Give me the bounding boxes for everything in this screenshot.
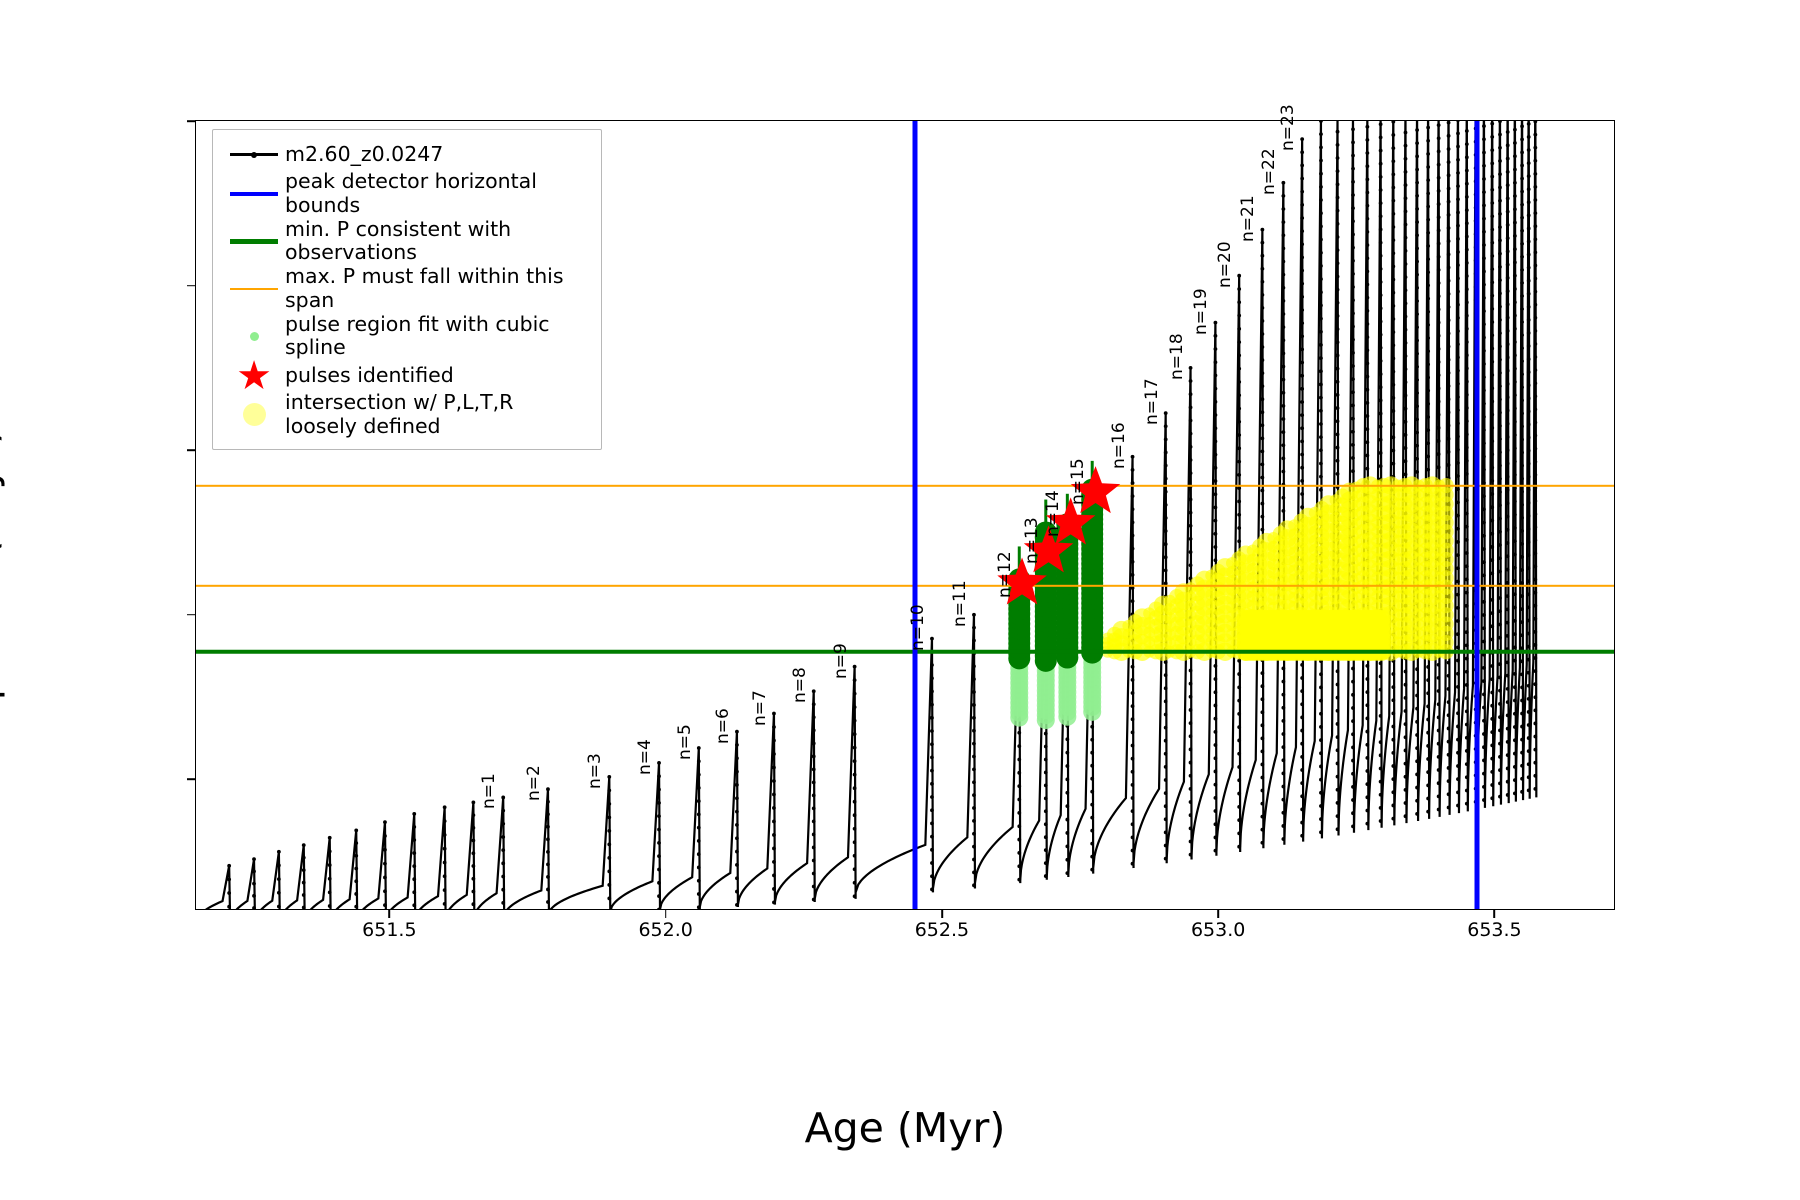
peak-label-n-21: n=21 <box>1238 195 1258 242</box>
legend-item[interactable]: max. P must fall within this span <box>223 265 591 313</box>
legend-line-dot-icon <box>223 142 285 168</box>
peak-label-n-18: n=18 <box>1167 333 1187 380</box>
legend-item[interactable]: ★pulses identified <box>223 360 591 391</box>
x-tick-mark <box>941 909 943 918</box>
peak-label-n-1: n=1 <box>479 774 499 810</box>
y-axis-label: FM period (days) <box>0 428 6 772</box>
peak-label-n-15: n=15 <box>1068 458 1088 505</box>
legend-item[interactable]: m2.60_z0.0247 <box>223 139 591 170</box>
y-tick-mark <box>187 779 196 781</box>
legend-item-label: pulses identified <box>285 364 454 388</box>
y-tick-mark <box>187 285 196 287</box>
legend-line-icon <box>223 276 285 302</box>
legend-item[interactable]: min. P consistent with observations <box>223 218 591 266</box>
max-period-span-lower-line <box>196 585 1614 587</box>
peak-label-n-4: n=4 <box>635 739 655 775</box>
legend-star-icon: ★ <box>223 363 285 389</box>
legend-item-label: m2.60_z0.0247 <box>285 143 443 167</box>
peak-label-n-19: n=19 <box>1191 288 1211 335</box>
legend-line-icon <box>223 228 285 254</box>
x-tick-mark <box>665 909 667 918</box>
legend-dot-icon <box>223 323 285 349</box>
legend-line-icon <box>223 181 285 207</box>
y-tick-mark <box>187 120 196 122</box>
x-tick-label: 651.5 <box>362 919 416 941</box>
figure-canvas: FM period (days) Age (Myr) n=1n=2n=3n=4n… <box>0 0 1800 1200</box>
y-tick-mark <box>187 614 196 616</box>
peak-label-n-3: n=3 <box>585 753 605 789</box>
x-tick-label: 653.5 <box>1467 919 1521 941</box>
x-tick-label: 652.5 <box>915 919 969 941</box>
peak-label-n-14: n=14 <box>1043 490 1063 537</box>
x-tick-mark <box>389 909 391 918</box>
legend-item[interactable]: peak detector horizontal bounds <box>223 170 591 218</box>
peak-detector-bound-right <box>1474 121 1479 909</box>
legend-big-dot-icon <box>223 402 285 428</box>
peak-label-n-8: n=8 <box>790 667 810 703</box>
legend-item-label: max. P must fall within this span <box>285 265 591 313</box>
x-tick-mark <box>1494 909 1496 918</box>
peak-label-n-5: n=5 <box>675 724 695 760</box>
peak-label-n-6: n=6 <box>713 708 733 744</box>
legend-item-label: min. P consistent with observations <box>285 218 591 266</box>
peak-label-n-13: n=13 <box>1022 518 1042 565</box>
peak-label-n-7: n=7 <box>750 690 770 726</box>
peak-label-n-2: n=2 <box>524 765 544 801</box>
max-period-span-upper-line <box>196 484 1614 486</box>
legend-item-label: intersection w/ P,L,T,R loosely defined <box>285 391 513 439</box>
peak-label-n-23: n=23 <box>1278 104 1298 151</box>
legend-item-label: pulse region fit with cubic spline <box>285 313 591 361</box>
min-period-line <box>196 650 1614 655</box>
peak-label-n-9: n=9 <box>831 643 851 679</box>
peak-label-n-11: n=11 <box>950 580 970 627</box>
legend-item-label: peak detector horizontal bounds <box>285 170 591 218</box>
x-axis-label: Age (Myr) <box>805 1104 1006 1152</box>
peak-detector-bound-left <box>913 121 918 909</box>
y-tick-mark <box>187 449 196 451</box>
x-tick-mark <box>1217 909 1219 918</box>
peak-label-n-17: n=17 <box>1142 378 1162 425</box>
x-tick-label: 653.0 <box>1191 919 1245 941</box>
legend-item[interactable]: pulse region fit with cubic spline <box>223 313 591 361</box>
legend-item[interactable]: intersection w/ P,L,T,R loosely defined <box>223 391 591 439</box>
peak-label-n-10: n=10 <box>908 604 928 651</box>
peak-label-n-20: n=20 <box>1215 241 1235 288</box>
peak-label-n-16: n=16 <box>1109 422 1129 469</box>
legend-box: m2.60_z0.0247peak detector horizontal bo… <box>212 129 602 450</box>
x-tick-label: 652.0 <box>638 919 692 941</box>
peak-label-n-22: n=22 <box>1259 148 1279 195</box>
peak-label-n-12: n=12 <box>995 551 1015 598</box>
